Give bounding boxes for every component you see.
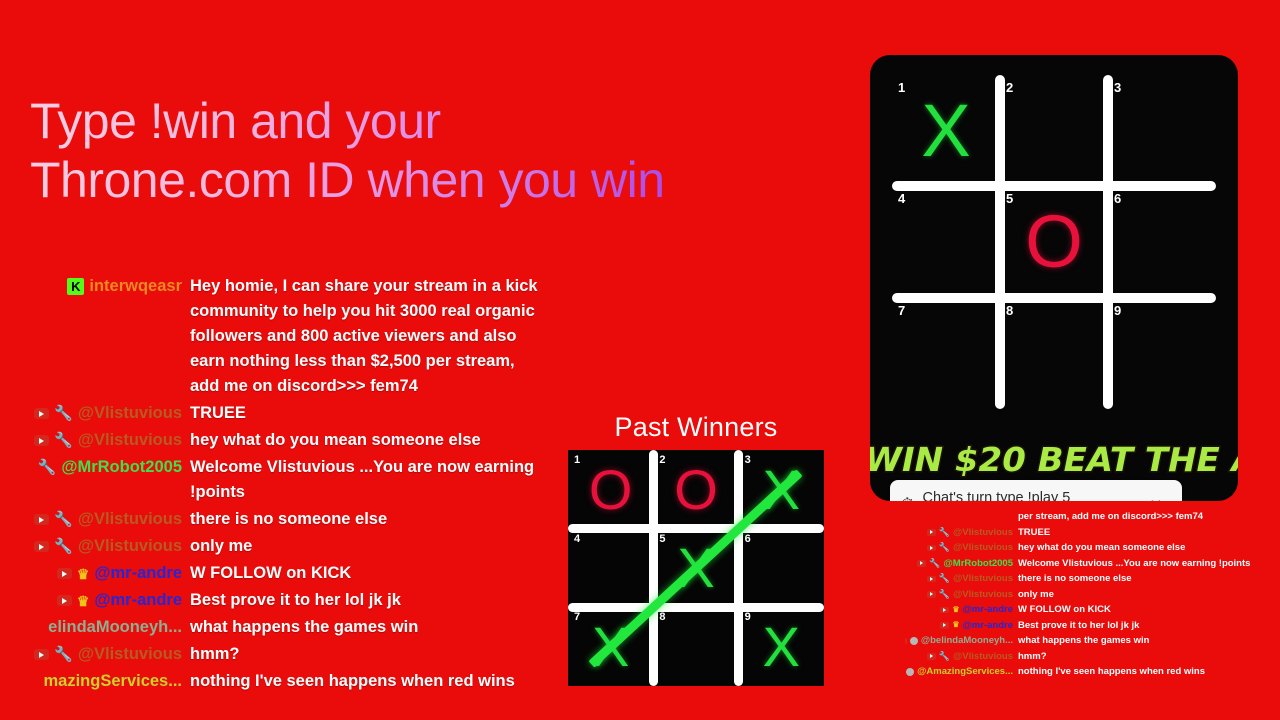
chat-message-meta: [905, 509, 1013, 525]
chat-message-row: 🔧@VlistuviousTRUEE: [905, 525, 1280, 541]
chat-message-meta: 🔧@Vlistuvious: [0, 401, 182, 426]
chat-username[interactable]: mazingServices...: [44, 669, 183, 694]
chat-message-row: 🔧@Vlistuviousthere is no someone else: [0, 507, 548, 532]
youtube-icon: [917, 560, 926, 567]
board-mark-x[interactable]: X: [892, 75, 1000, 186]
chat-message-text: hmm?: [1013, 649, 1280, 665]
board-cell-number: 8: [659, 611, 665, 623]
past-winners-panel: Past Winners 1O2O3X45X67X89X: [568, 412, 824, 686]
chat-message-meta: 🔧@Vlistuvious: [905, 649, 1013, 665]
chat-username[interactable]: elindaMooneyh...: [48, 615, 182, 640]
board-cell-number: 4: [574, 533, 580, 545]
youtube-icon: [940, 622, 949, 629]
chat-main-list: KinterwqeasrHey homie, I can share your …: [0, 274, 548, 696]
youtube-icon: [927, 653, 936, 660]
youtube-icon: [927, 545, 936, 552]
chat-username[interactable]: @Vlistuvious: [953, 649, 1013, 665]
wrench-icon: 🔧: [939, 528, 950, 537]
wrench-icon: 🔧: [54, 647, 73, 662]
wrench-icon: 🔧: [939, 590, 950, 599]
chat-message-meta: @belindaMooneyh...: [905, 633, 1013, 649]
chat-message-meta: 🔧@Vlistuvious: [0, 428, 182, 453]
board-cell-number: 7: [898, 303, 905, 318]
wrench-icon: 🔧: [54, 433, 73, 448]
chat-message-row: KinterwqeasrHey homie, I can share your …: [0, 274, 548, 399]
wrench-icon: 🔧: [939, 574, 950, 583]
chat-message-text: nothing I've seen happens when red wins: [182, 669, 548, 694]
chat-message-meta: 🔧@MrRobot2005: [0, 455, 182, 480]
chat-message-meta: 🔧@Vlistuvious: [905, 540, 1013, 556]
youtube-icon: [57, 595, 72, 606]
circle-icon: [906, 668, 914, 676]
game-board-panel: 1X2345O6789 WIN $20 BEAT THE AI ⏱ Chat's…: [870, 55, 1238, 501]
youtube-icon: [34, 435, 49, 446]
chat-message-meta: 🔧@Vlistuvious: [0, 642, 182, 667]
chat-message-text: W FOLLOW on KICK: [182, 561, 548, 586]
chat-message-row: 🔧@MrRobot2005Welcome Vlistuvious ...You …: [905, 556, 1280, 572]
board-cell-number: 6: [745, 533, 751, 545]
chat-message-row: ♛@mr-andreW FOLLOW on KICK: [0, 561, 548, 586]
chat-message-text: hey what do you mean someone else: [1013, 540, 1280, 556]
status-timer: 11s: [1142, 497, 1170, 501]
youtube-icon: [34, 541, 49, 552]
chat-username[interactable]: @Vlistuvious: [953, 571, 1013, 587]
chat-username[interactable]: @mr-andre: [963, 618, 1013, 634]
wrench-icon: 🔧: [38, 460, 57, 475]
wrench-icon: 🔧: [939, 543, 950, 552]
chat-message-row: 🔧@VlistuviousTRUEE: [0, 401, 548, 426]
chat-username[interactable]: @Vlistuvious: [78, 507, 182, 532]
chat-message-text: TRUEE: [1013, 525, 1280, 541]
crown-icon: ♛: [952, 606, 959, 614]
board-mark-o[interactable]: O: [653, 450, 738, 529]
chat-message-text: Best prove it to her lol jk jk: [1013, 618, 1280, 634]
chat-message-meta: 🔧@MrRobot2005: [905, 556, 1013, 572]
chat-username[interactable]: @Vlistuvious: [953, 525, 1013, 541]
status-card: ⏱ Chat's turn type !play 5 Type: "!play …: [890, 480, 1182, 501]
chat-message-meta: Kinterwqeasr: [0, 274, 182, 299]
past-winners-board: 1O2O3X45X67X89X: [568, 450, 824, 686]
chat-message-text: there is no someone else: [182, 507, 548, 532]
board-cell-number: 3: [1114, 80, 1121, 95]
board-cell-number: 6: [1114, 191, 1121, 206]
chat-username[interactable]: @mr-andre: [963, 602, 1013, 618]
past-winners-title: Past Winners: [568, 412, 824, 443]
chat-username[interactable]: @mr-andre: [94, 588, 182, 613]
status-title: Chat's turn type !play 5: [922, 490, 1142, 502]
stopwatch-icon: ⏱: [901, 497, 913, 501]
board-mark-o[interactable]: O: [1000, 186, 1108, 297]
chat-message-text: Hey homie, I can share your stream in a …: [182, 274, 548, 399]
crown-icon: ♛: [77, 567, 90, 581]
chat-username[interactable]: @Vlistuvious: [78, 428, 182, 453]
chat-username[interactable]: @mr-andre: [94, 561, 182, 586]
youtube-icon: [927, 529, 936, 536]
crown-icon: ♛: [77, 594, 90, 608]
win-banner-text: WIN $20 BEAT THE AI: [870, 440, 1238, 479]
chat-message-meta: ♛@mr-andre: [0, 561, 182, 586]
youtube-icon: [927, 591, 936, 598]
chat-message-text: what happens the games win: [1013, 633, 1280, 649]
youtube-icon: [34, 408, 49, 419]
chat-message-text: Best prove it to her lol jk jk: [182, 588, 548, 613]
chat-message-meta: mazingServices...: [0, 669, 182, 694]
chat-username[interactable]: @Vlistuvious: [78, 534, 182, 559]
chat-message-row: 🔧@Vlistuviousthere is no someone else: [905, 571, 1280, 587]
chat-message-meta: 🔧@Vlistuvious: [905, 571, 1013, 587]
board-cell-number: 9: [1114, 303, 1121, 318]
chat-message-text: hey what do you mean someone else: [182, 428, 548, 453]
stream-overlay-stage: Type !win and your Throne.com ID when yo…: [0, 0, 1280, 720]
board-mark-o[interactable]: O: [568, 450, 653, 529]
chat-message-meta: 🔧@Vlistuvious: [0, 507, 182, 532]
circle-icon: [910, 637, 918, 645]
chat-username[interactable]: @Vlistuvious: [78, 401, 182, 426]
chat-message-text: TRUEE: [182, 401, 548, 426]
chat-message-row: 🔧@Vlistuviousonly me: [905, 587, 1280, 603]
chat-message-row: ♛@mr-andreW FOLLOW on KICK: [905, 602, 1280, 618]
chat-message-row: ♛@mr-andreBest prove it to her lol jk jk: [0, 588, 548, 613]
chat-username[interactable]: @MrRobot2005: [61, 455, 182, 480]
wrench-icon: 🔧: [54, 406, 73, 421]
chat-message-meta: 🔧@Vlistuvious: [905, 587, 1013, 603]
chat-message-text: what happens the games win: [182, 615, 548, 640]
chat-message-text: there is no someone else: [1013, 571, 1280, 587]
chat-message-text: Welcome Vlistuvious ...You are now earni…: [182, 455, 548, 505]
board-cell-number: 2: [1006, 80, 1013, 95]
wrench-icon: 🔧: [54, 512, 73, 527]
board-cell-number: 4: [898, 191, 905, 206]
chat-message-meta: @AmazingServices...: [905, 664, 1013, 680]
chat-mini-list: per stream, add me on discord>>> fem74🔧@…: [905, 509, 1280, 680]
chat-username[interactable]: interwqeasr: [89, 274, 182, 299]
wrench-icon: 🔧: [939, 652, 950, 661]
wrench-icon: 🔧: [929, 559, 940, 568]
chat-message-text: only me: [182, 534, 548, 559]
chat-username[interactable]: @Vlistuvious: [953, 540, 1013, 556]
chat-message-text: per stream, add me on discord>>> fem74: [1013, 509, 1280, 525]
tic-tac-toe-board[interactable]: 1X2345O6789: [892, 75, 1216, 409]
youtube-icon: [57, 568, 72, 579]
chat-username[interactable]: @Vlistuvious: [78, 642, 182, 667]
chat-message-row: per stream, add me on discord>>> fem74: [905, 509, 1280, 525]
chat-message-meta: ♛@mr-andre: [905, 602, 1013, 618]
chat-message-meta: 🔧@Vlistuvious: [0, 534, 182, 559]
chat-message-row: @AmazingServices...nothing I've seen hap…: [905, 664, 1280, 680]
chat-username[interactable]: @belindaMooneyh...: [921, 633, 1013, 649]
chat-message-row: 🔧@Vlistuvioushey what do you mean someon…: [0, 428, 548, 453]
chat-message-row: elindaMooneyh...what happens the games w…: [0, 615, 548, 640]
youtube-icon: [34, 649, 49, 660]
chat-message-text: hmm?: [182, 642, 548, 667]
youtube-icon: [34, 514, 49, 525]
chat-message-meta: ♛@mr-andre: [905, 618, 1013, 634]
chat-message-text: W FOLLOW on KICK: [1013, 602, 1280, 618]
chat-message-text: only me: [1013, 587, 1280, 603]
chat-message-row: 🔧@Vlistuvioushmm?: [0, 642, 548, 667]
status-card-texts: Chat's turn type !play 5 Type: "!play 1-…: [922, 490, 1142, 502]
chat-message-meta: 🔧@Vlistuvious: [905, 525, 1013, 541]
chat-message-row: ♛@mr-andreBest prove it to her lol jk jk: [905, 618, 1280, 634]
chat-message-row: 🔧@Vlistuvioushmm?: [905, 649, 1280, 665]
kick-icon: K: [67, 278, 84, 295]
chat-message-meta: ♛@mr-andre: [0, 588, 182, 613]
chat-message-text: Welcome Vlistuvious ...You are now earni…: [1013, 556, 1280, 572]
chat-username[interactable]: @MrRobot2005: [944, 556, 1013, 572]
chat-username[interactable]: @AmazingServices...: [917, 664, 1013, 680]
chat-username[interactable]: @Vlistuvious: [953, 587, 1013, 603]
crown-icon: ♛: [952, 621, 959, 629]
youtube-icon: [905, 638, 907, 645]
page-title: Type !win and your Throne.com ID when yo…: [30, 92, 730, 210]
chat-message-row: 🔧@Vlistuviousonly me: [0, 534, 548, 559]
board-mark-x[interactable]: X: [739, 607, 824, 686]
chat-message-text: nothing I've seen happens when red wins: [1013, 664, 1280, 680]
chat-message-row: 🔧@Vlistuvioushey what do you mean someon…: [905, 540, 1280, 556]
youtube-icon: [940, 607, 949, 614]
chat-message-row: @belindaMooneyh...what happens the games…: [905, 633, 1280, 649]
chat-message-row: 🔧@MrRobot2005Welcome Vlistuvious ...You …: [0, 455, 548, 505]
wrench-icon: 🔧: [54, 539, 73, 554]
chat-message-row: mazingServices...nothing I've seen happe…: [0, 669, 548, 694]
chat-message-meta: elindaMooneyh...: [0, 615, 182, 640]
board-cell-number: 8: [1006, 303, 1013, 318]
youtube-icon: [927, 576, 936, 583]
